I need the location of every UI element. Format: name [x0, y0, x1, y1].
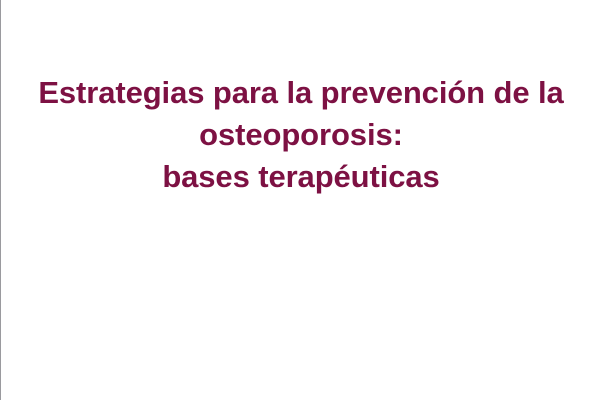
slide-title-line-1: Estrategias para la prevención de la	[15, 72, 587, 114]
slide-title-line-2: osteoporosis:	[15, 114, 587, 156]
slide-body-area	[1, 210, 600, 400]
slide-canvas: Estrategias para la prevención de la ost…	[0, 0, 600, 400]
slide-title-line-3: bases terapéuticas	[15, 156, 587, 198]
slide-title: Estrategias para la prevención de la ost…	[1, 72, 600, 198]
